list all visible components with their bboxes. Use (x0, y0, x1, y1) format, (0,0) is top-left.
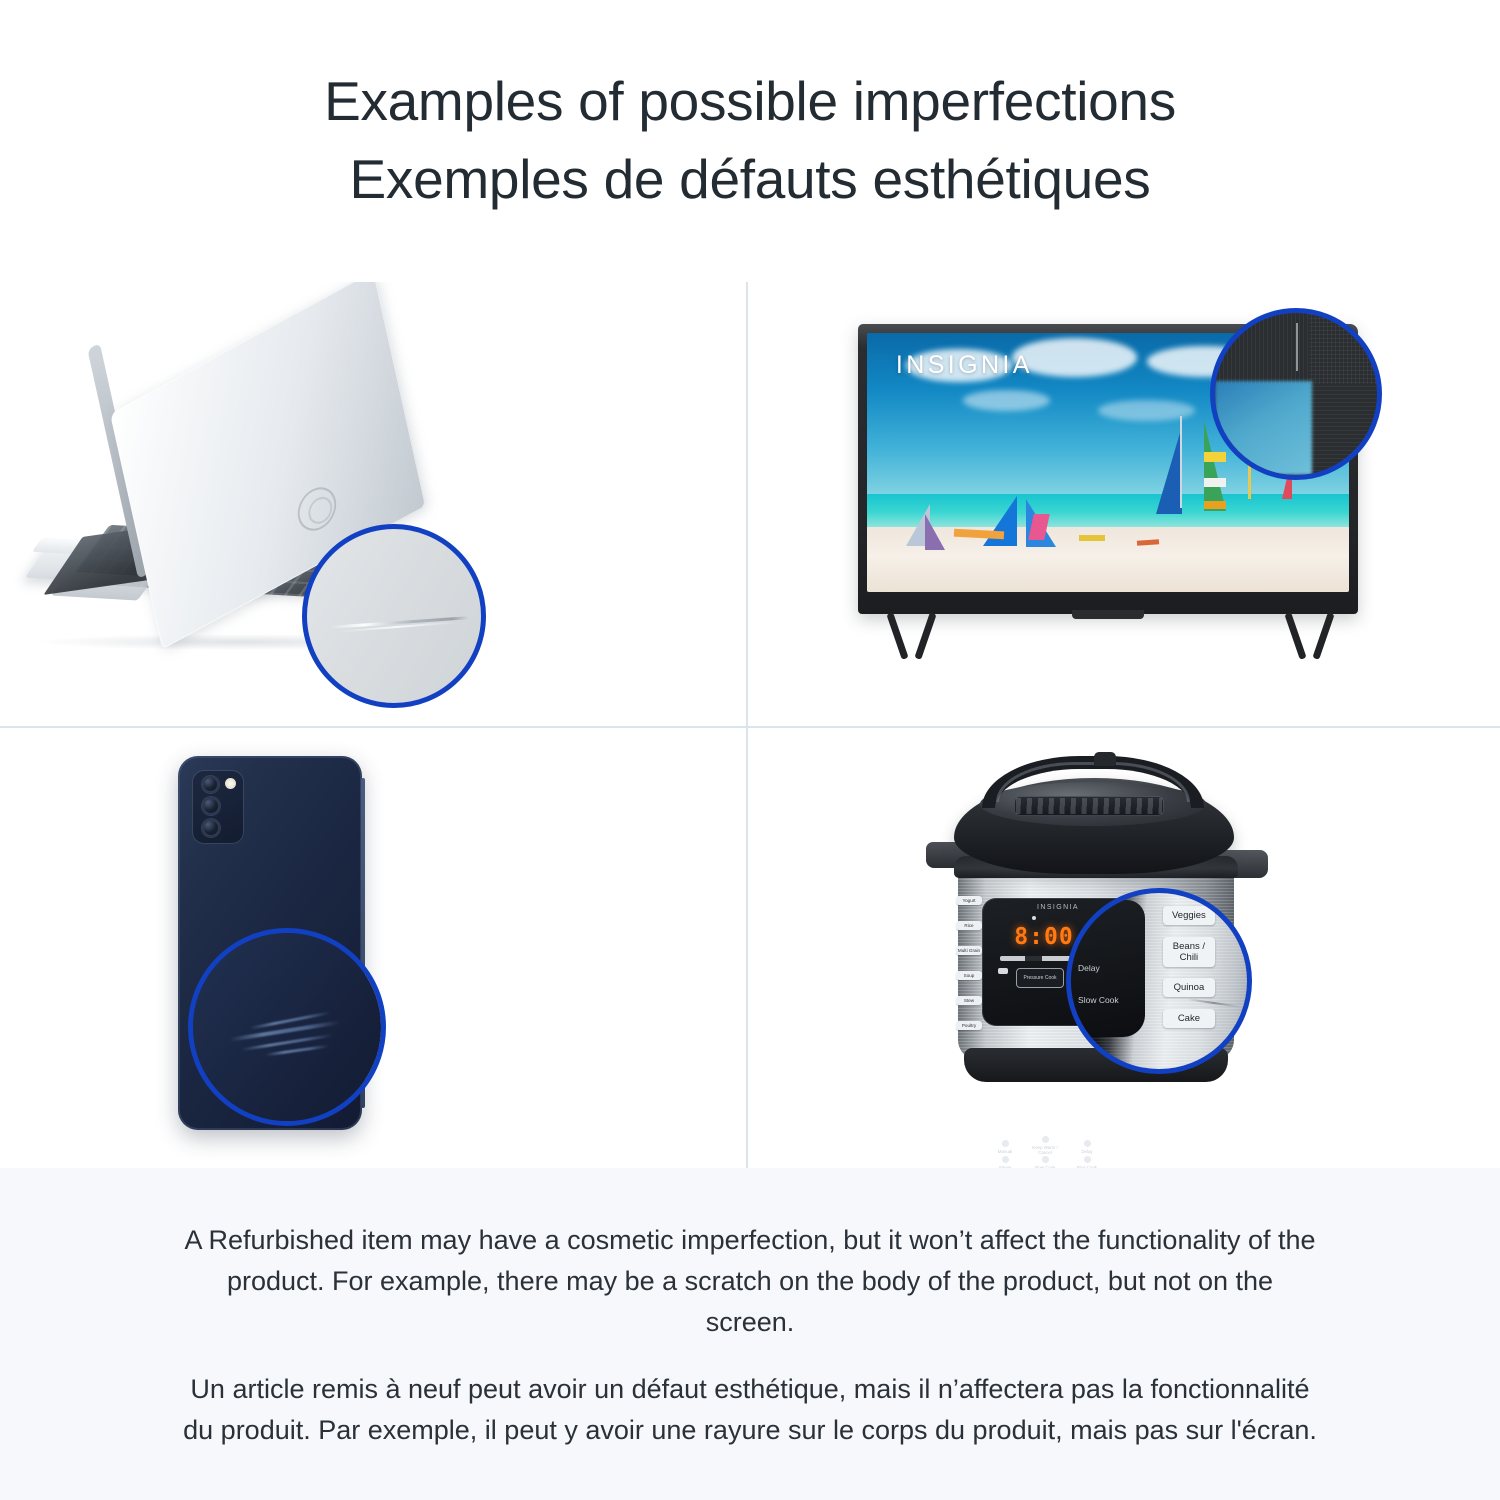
tv-brand-logo: INSIGNIA (896, 351, 1033, 380)
camera-lens-icon (202, 819, 220, 837)
tv-leg (886, 612, 908, 660)
television-panel: INSIGNIA (748, 282, 1500, 728)
cooker-button-manual[interactable]: Manual (992, 1140, 1018, 1154)
cooker-button-keep-warm[interactable]: Keep Warm / Cancel (1032, 1136, 1058, 1155)
cooker-key-soup[interactable]: Soup (956, 971, 982, 980)
laptop-panel (0, 282, 748, 728)
phone-magnified-surface (193, 933, 381, 1121)
page-title-en: Examples of possible imperfections (324, 62, 1176, 140)
smartphone-illustration (0, 728, 746, 1168)
smartphone-panel (0, 728, 748, 1168)
cooker-magnified-label-delay: Delay (1078, 963, 1100, 973)
beached-sail (925, 514, 945, 550)
cooker-indicator-led (1032, 916, 1036, 920)
cooker-button-steam[interactable]: Steam (992, 1156, 1018, 1168)
cooker-pressure-cook-button[interactable]: Pressure Cook (1016, 968, 1064, 988)
cooker-button-delay[interactable]: Delay (1074, 1140, 1100, 1154)
tv-stand-bar (1072, 610, 1144, 619)
cooker-key-poultry[interactable]: Poultry (956, 1021, 982, 1030)
cooker-minus-button[interactable] (998, 968, 1008, 974)
cooker-steam-valve (1094, 752, 1116, 766)
tv-leg (1312, 612, 1334, 660)
footer-description: A Refurbished item may have a cosmetic i… (0, 1168, 1500, 1500)
television-illustration: INSIGNIA (748, 282, 1500, 726)
cooker-key-yogurt[interactable]: Yogurt (956, 896, 982, 905)
sail-stripe (1079, 535, 1105, 541)
cloud (963, 390, 1050, 411)
camera-lens-icon (202, 797, 220, 815)
cooker-bottom-button-row: Manual Keep Warm / Cancel Delay Steam Sl… (1054, 1136, 1190, 1168)
phone-scratch-magnifier (188, 928, 386, 1126)
tv-magnified-screen (1215, 381, 1312, 475)
cooker-key-multi-grain[interactable]: Multi Grain (956, 946, 982, 955)
cooker-display: 8:00 (1008, 924, 1080, 950)
cooker-magnified-label-slow-cook: Slow Cook (1078, 995, 1119, 1005)
camera-flash-icon (225, 778, 236, 789)
camera-lens-icon (202, 776, 219, 793)
tv-leg (1284, 612, 1306, 660)
header: Examples of possible imperfections Exemp… (0, 0, 1500, 282)
tv-magnified-bezel-right (1309, 313, 1377, 475)
pressure-cooker-panel: INSIGNIA 8:00 Pressure Cook Manual Keep … (748, 728, 1500, 1168)
tv-bezel-magnifier (1210, 308, 1382, 480)
cooker-left-button-column: Yogurt Rice Multi Grain Soup Stew Poultr… (956, 892, 982, 1034)
pressure-cooker-illustration: INSIGNIA 8:00 Pressure Cook Manual Keep … (748, 728, 1500, 1168)
page-title-fr: Exemples de défauts esthétiques (350, 140, 1151, 218)
sailboat (1156, 426, 1182, 514)
cooker-button-rice-cook[interactable]: Rice Cook (1074, 1156, 1100, 1168)
description-paragraph-en: A Refurbished item may have a cosmetic i… (180, 1220, 1320, 1343)
sail-stripe (1204, 478, 1226, 487)
tv-bezel-scuff-mark (1296, 323, 1298, 372)
sail-stripe (1204, 501, 1226, 509)
cooker-magnified-key-beans-chili[interactable]: Beans / Chili (1163, 937, 1216, 967)
cooker-key-rice[interactable]: Rice (956, 921, 982, 930)
cooker-button-slow-cook[interactable]: Slow Cook (1032, 1156, 1058, 1168)
cooker-magnified-key-cake[interactable]: Cake (1163, 1009, 1216, 1028)
tv-leg (914, 612, 936, 660)
cooker-key-stew[interactable]: Stew (956, 996, 982, 1005)
refurbished-imperfections-infographic: Examples of possible imperfections Exemp… (0, 0, 1500, 1500)
laptop-illustration (0, 282, 746, 726)
laptop-scratch-magnifier (302, 524, 486, 708)
camera-module (192, 770, 244, 844)
cooker-magnified-keys: Veggies Beans / Chili Quinoa Cake (1163, 900, 1216, 1034)
cooker-magnified-key-quinoa[interactable]: Quinoa (1163, 978, 1216, 997)
cooker-scratch-magnifier: Delay Slow Cook Veggies Beans / Chili Qu… (1066, 888, 1252, 1074)
cooker-magnified-key-veggies[interactable]: Veggies (1163, 906, 1216, 925)
description-paragraph-fr: Un article remis à neuf peut avoir un dé… (180, 1369, 1320, 1451)
examples-grid: INSIGNIA (0, 282, 1500, 1168)
mast (1180, 416, 1182, 508)
